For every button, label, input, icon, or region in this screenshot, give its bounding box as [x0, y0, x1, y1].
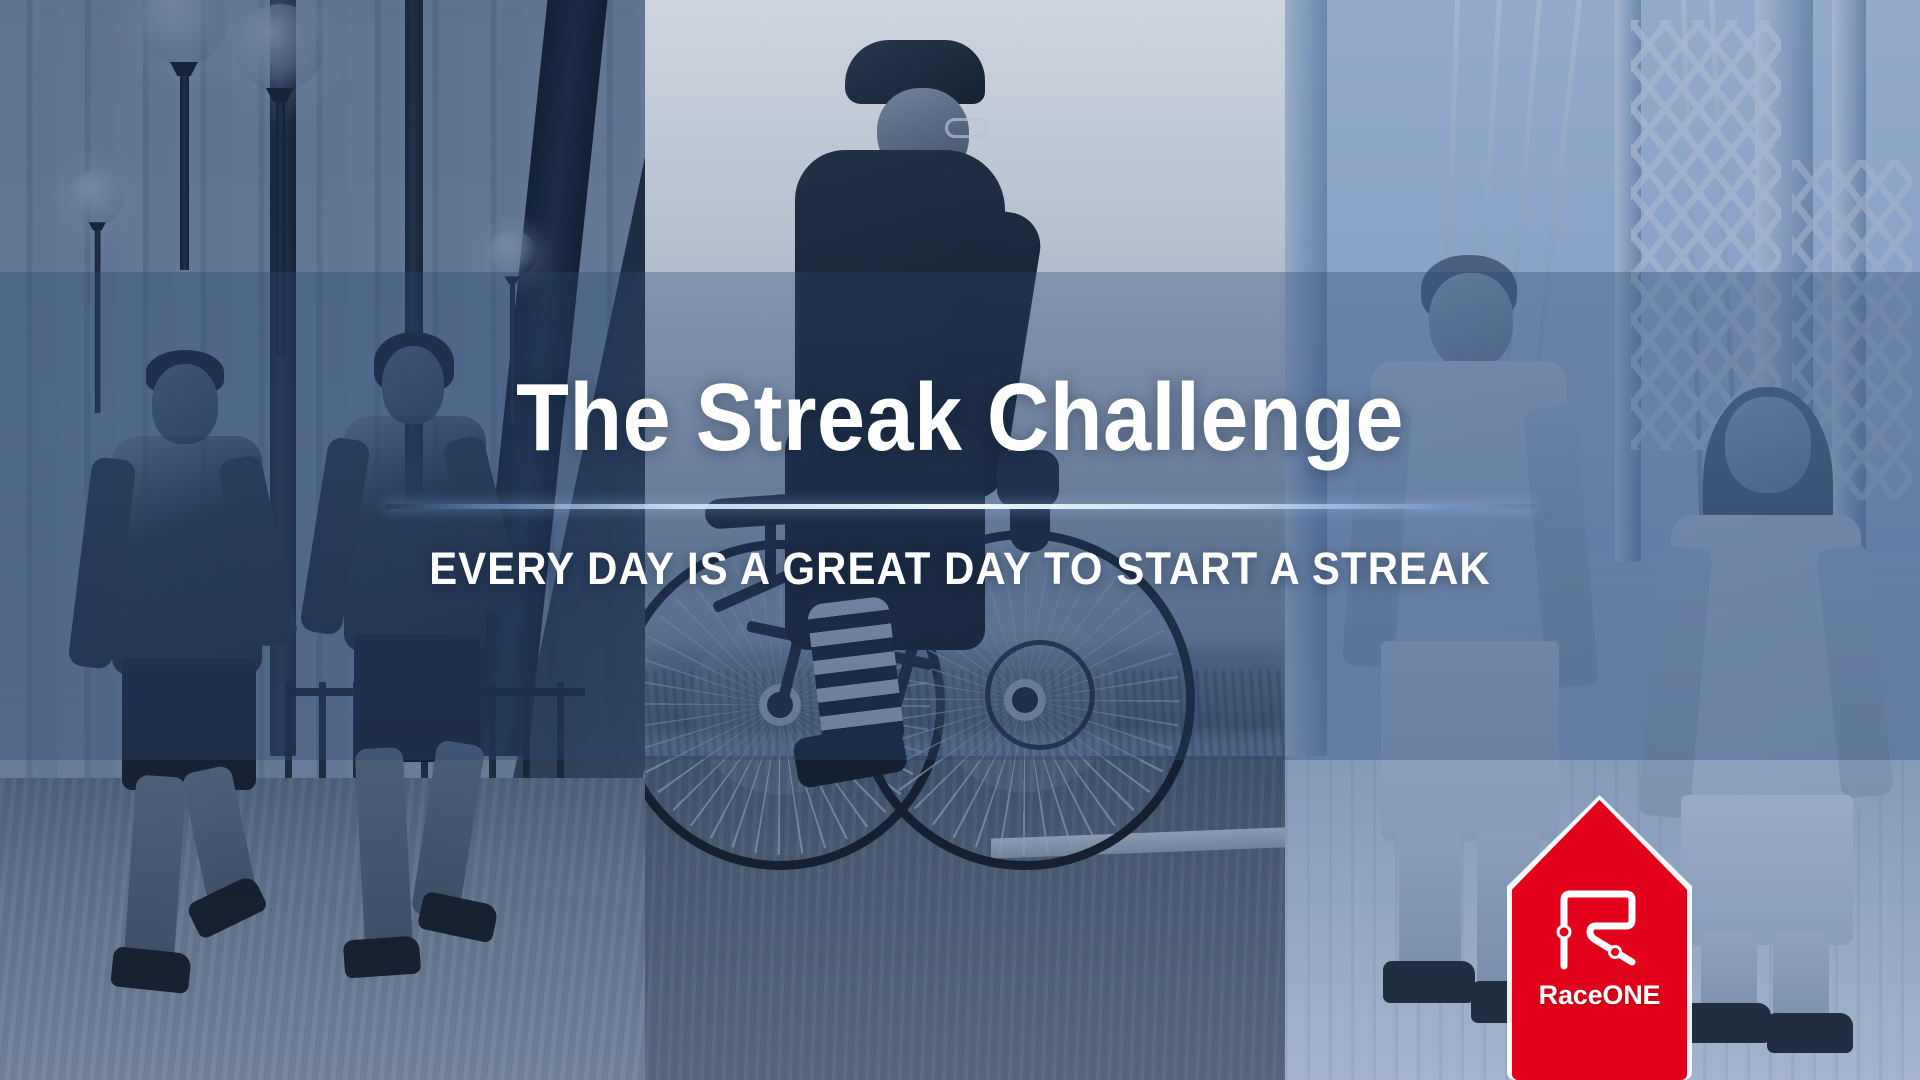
cyclist-photo: [645, 0, 1285, 1080]
panel-runners: [0, 0, 645, 1080]
raceone-logo[interactable]: RaceONE: [1512, 800, 1687, 1080]
streak-challenge-hero-banner: The Streak Challenge EVERY DAY IS A GREA…: [0, 0, 1920, 1080]
runners-photo: [0, 0, 645, 1080]
panel-cyclist: [645, 0, 1285, 1080]
raceone-route-r-mark: [1552, 886, 1648, 972]
raceone-wordmark: RaceONE: [1512, 980, 1687, 1011]
